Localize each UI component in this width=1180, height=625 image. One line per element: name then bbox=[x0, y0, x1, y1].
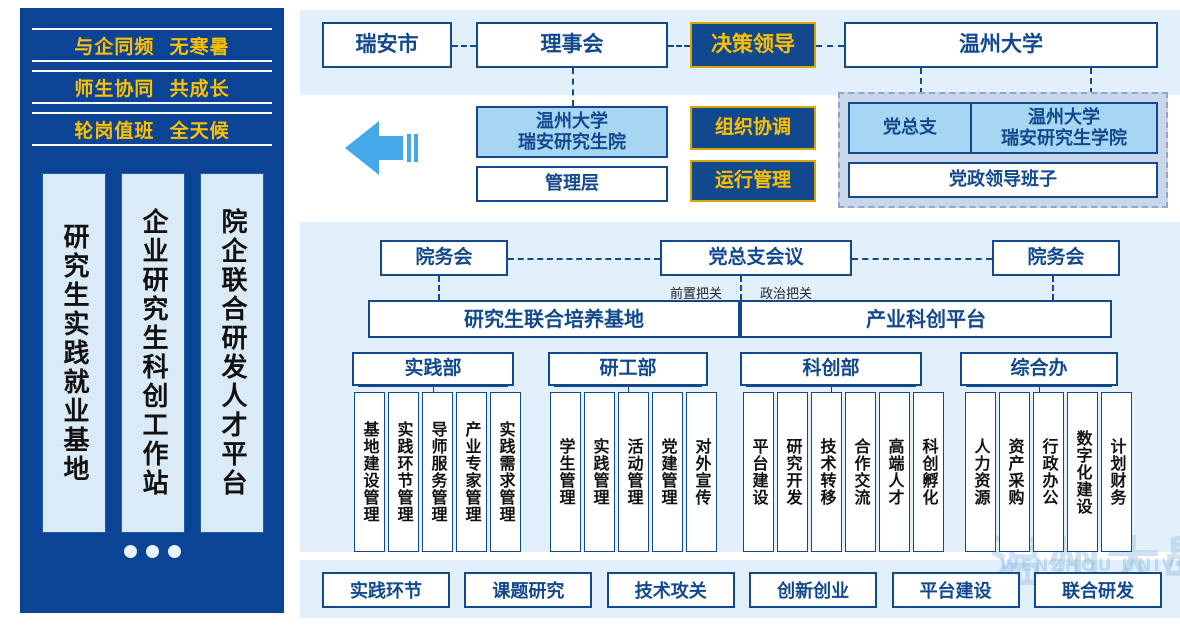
dept-item[interactable]: 科创孵化 bbox=[913, 392, 944, 552]
dept-item[interactable]: 平台建设 bbox=[743, 392, 774, 552]
pillar-practice-base[interactable]: 研究生实践就业基地 bbox=[42, 173, 106, 533]
right-area: 温州大學 WENZHOU UNIVERSITY 瑞安市 理事会 决策领导 温州大… bbox=[300, 0, 1180, 625]
dept-item[interactable]: 高端人才 bbox=[879, 392, 910, 552]
box-council[interactable]: 理事会 bbox=[476, 22, 668, 68]
connector-affairs-to-party-meeting bbox=[508, 258, 660, 260]
pillar-label: 院企联合研发人才平台 bbox=[219, 208, 245, 498]
dept-item[interactable]: 实践环节管理 bbox=[388, 392, 419, 552]
dept-item-label: 实践管理 bbox=[592, 438, 608, 506]
bracket-bar-research bbox=[554, 386, 702, 387]
dept-item[interactable]: 对外宣传 bbox=[686, 392, 717, 552]
slogan-row-3: 轮岗值班 全天候 bbox=[32, 112, 272, 146]
dept-item-label: 产业专家管理 bbox=[464, 421, 480, 523]
dot-icon bbox=[124, 545, 137, 558]
box-wenzhou-university[interactable]: 温州大学 bbox=[844, 22, 1158, 68]
box-college-affairs-right[interactable]: 院务会 bbox=[992, 240, 1120, 276]
dept-items-practice: 基地建设管理 实践环节管理 导师服务管理 产业专家管理 实践需求管理 bbox=[354, 392, 521, 552]
pillar-joint-rd-platform[interactable]: 院企联合研发人才平台 bbox=[200, 173, 264, 533]
bracket-bar-practice bbox=[358, 386, 508, 387]
connector-party-meeting-to-affairs-right bbox=[852, 258, 992, 260]
box-party-leadership-team[interactable]: 党政领导班子 bbox=[848, 162, 1158, 198]
dot-icon bbox=[168, 545, 181, 558]
connector-affairs-right-down bbox=[1052, 276, 1054, 300]
pillar-label: 企业研究生科创工作站 bbox=[140, 208, 166, 498]
pillar-enterprise-workstation[interactable]: 企业研究生科创工作站 bbox=[121, 173, 185, 533]
dept-item[interactable]: 学生管理 bbox=[550, 392, 581, 552]
left-arrow-icon bbox=[345, 118, 423, 178]
connector-decision-to-university bbox=[816, 45, 844, 47]
dept-item[interactable]: 资产采购 bbox=[999, 392, 1030, 552]
dept-item[interactable]: 人力资源 bbox=[965, 392, 996, 552]
dept-item[interactable]: 数字化建设 bbox=[1067, 392, 1098, 552]
dept-item-label: 基地建设管理 bbox=[362, 421, 378, 523]
dept-item-label: 平台建设 bbox=[751, 438, 767, 506]
dept-item-label: 党建管理 bbox=[660, 438, 676, 506]
pill-technical-breakthrough[interactable]: 技术攻关 bbox=[607, 572, 735, 608]
box-party-college[interactable]: 温州大学 瑞安研究生学院 bbox=[970, 102, 1158, 154]
connector-affairs-left-down bbox=[438, 276, 440, 300]
pill-practice-link[interactable]: 实践环节 bbox=[322, 572, 450, 608]
box-graduate-school[interactable]: 温州大学 瑞安研究生院 bbox=[476, 106, 668, 158]
dept-item[interactable]: 基地建设管理 bbox=[354, 392, 385, 552]
dept-item-label: 人力资源 bbox=[973, 438, 989, 506]
dept-items-research-work: 学生管理 实践管理 活动管理 党建管理 对外宣传 bbox=[550, 392, 717, 552]
dept-item[interactable]: 实践管理 bbox=[584, 392, 615, 552]
bracket-bar-general bbox=[966, 386, 1112, 387]
box-party-branch-meeting[interactable]: 党总支会议 bbox=[660, 240, 852, 276]
dept-items-general-office: 人力资源 资产采购 行政办公 数字化建设 计划财务 bbox=[965, 392, 1132, 552]
connector-council-down bbox=[572, 68, 574, 106]
dept-item[interactable]: 党建管理 bbox=[652, 392, 683, 552]
pill-topic-research[interactable]: 课题研究 bbox=[464, 572, 592, 608]
dept-item-label: 高端人才 bbox=[887, 438, 903, 506]
dept-item[interactable]: 活动管理 bbox=[618, 392, 649, 552]
dept-item-label: 数字化建设 bbox=[1075, 430, 1091, 515]
dept-item-label: 技术转移 bbox=[819, 438, 835, 506]
dept-item-label: 实践需求管理 bbox=[498, 421, 514, 523]
box-organize-coordinate[interactable]: 组织协调 bbox=[690, 106, 816, 150]
dept-item-label: 对外宣传 bbox=[694, 438, 710, 506]
dept-header-research-work[interactable]: 研工部 bbox=[548, 352, 708, 386]
dept-item-label: 实践环节管理 bbox=[396, 421, 412, 523]
dept-item-label: 导师服务管理 bbox=[430, 421, 446, 523]
left-panel: 与企同频 无寒暑 师生协同 共成长 轮岗值班 全天候 研究生实践就业基地 企业研… bbox=[20, 8, 284, 613]
connector-council-to-decision bbox=[668, 45, 690, 47]
dept-item-label: 计划财务 bbox=[1109, 438, 1125, 506]
connector-party-meeting-down bbox=[740, 276, 742, 300]
box-college-affairs-left[interactable]: 院务会 bbox=[380, 240, 508, 276]
box-management-layer[interactable]: 管理层 bbox=[476, 166, 668, 202]
bottom-activities-row: 实践环节 课题研究 技术攻关 创新创业 平台建设 联合研发 bbox=[322, 572, 1162, 608]
dept-item[interactable]: 合作交流 bbox=[845, 392, 876, 552]
dept-items-innovation: 平台建设 研究开发 技术转移 合作交流 高端人才 科创孵化 bbox=[743, 392, 944, 552]
box-operation-management[interactable]: 运行管理 bbox=[690, 160, 816, 202]
connector-university-down-right bbox=[1090, 68, 1092, 94]
pillar-label: 研究生实践就业基地 bbox=[61, 223, 87, 484]
pillar-group: 研究生实践就业基地 企业研究生科创工作站 院企联合研发人才平台 bbox=[42, 173, 264, 533]
dept-item-label: 活动管理 bbox=[626, 438, 642, 506]
dept-item-label: 研究开发 bbox=[785, 438, 801, 506]
connector-university-down-left bbox=[920, 68, 922, 94]
dept-header-practice[interactable]: 实践部 bbox=[352, 352, 514, 386]
box-ruian-city[interactable]: 瑞安市 bbox=[322, 22, 452, 68]
pill-joint-rd[interactable]: 联合研发 bbox=[1034, 572, 1162, 608]
dept-item[interactable]: 研究开发 bbox=[777, 392, 808, 552]
dept-item-label: 学生管理 bbox=[558, 438, 574, 506]
box-industry-innovation-platform[interactable]: 产业科创平台 bbox=[740, 300, 1112, 338]
dept-item-label: 资产采购 bbox=[1007, 438, 1023, 506]
dept-item[interactable]: 技术转移 bbox=[811, 392, 842, 552]
dept-header-general-office[interactable]: 综合办 bbox=[960, 352, 1118, 386]
organization-chart-page: 与企同频 无寒暑 师生协同 共成长 轮岗值班 全天候 研究生实践就业基地 企业研… bbox=[0, 0, 1180, 625]
dept-item[interactable]: 计划财务 bbox=[1101, 392, 1132, 552]
dept-item[interactable]: 行政办公 bbox=[1033, 392, 1064, 552]
dept-item-label: 行政办公 bbox=[1041, 438, 1057, 506]
pill-innovation-entrepreneurship[interactable]: 创新创业 bbox=[749, 572, 877, 608]
box-decision-leadership[interactable]: 决策领导 bbox=[690, 22, 816, 68]
dept-item-label: 合作交流 bbox=[853, 438, 869, 506]
dept-item[interactable]: 产业专家管理 bbox=[456, 392, 487, 552]
more-dots-indicator bbox=[20, 545, 284, 558]
slogan-row-2: 师生协同 共成长 bbox=[32, 70, 272, 104]
dept-item-label: 科创孵化 bbox=[921, 438, 937, 506]
connector-city-to-council bbox=[452, 45, 476, 47]
slogan-row-1: 与企同频 无寒暑 bbox=[32, 28, 272, 62]
dot-icon bbox=[146, 545, 159, 558]
bracket-bar-innovation bbox=[746, 386, 916, 387]
dept-item[interactable]: 导师服务管理 bbox=[422, 392, 453, 552]
dept-item[interactable]: 实践需求管理 bbox=[490, 392, 521, 552]
box-party-branch[interactable]: 党总支 bbox=[848, 102, 972, 154]
pill-platform-construction[interactable]: 平台建设 bbox=[892, 572, 1020, 608]
box-joint-training-base[interactable]: 研究生联合培养基地 bbox=[368, 300, 740, 338]
dept-header-innovation[interactable]: 科创部 bbox=[740, 352, 922, 386]
